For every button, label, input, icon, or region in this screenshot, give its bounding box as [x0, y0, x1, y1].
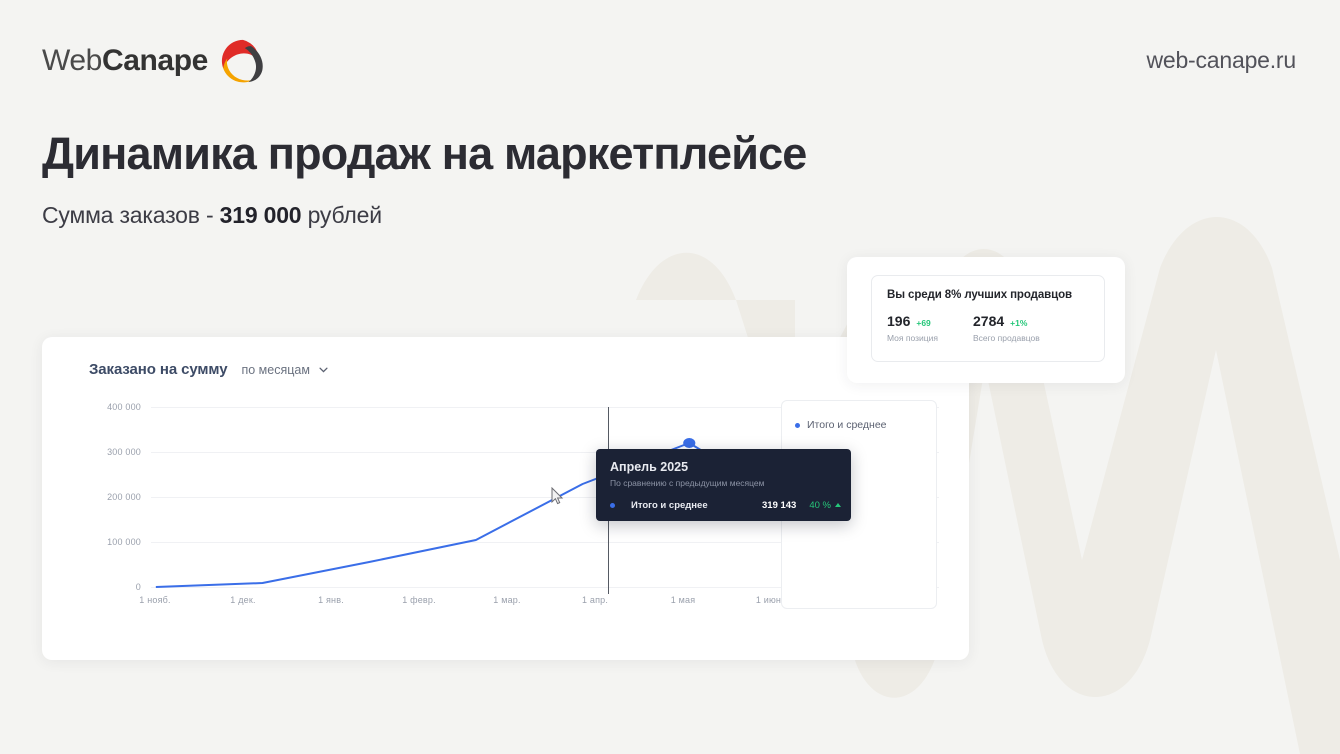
chart-tooltip: Апрель 2025 По сравнению с предыдущим ме…	[596, 449, 851, 521]
y-tick-label: 0	[136, 582, 141, 592]
stat-caption: Моя позиция	[887, 333, 938, 343]
y-tick-label: 300 000	[107, 447, 141, 457]
stat-value-row: 196 +69	[887, 313, 938, 329]
stat-change: +1%	[1010, 318, 1027, 328]
brand-logo[interactable]: WebCanape	[42, 38, 266, 84]
page-subtitle: Сумма заказов - 319 000 рублей	[42, 202, 382, 229]
slide-root: WebCanape web-canape.ru Динамика продаж …	[0, 0, 1340, 754]
brand-text-bold: Canape	[102, 44, 208, 77]
page-title: Динамика продаж на маркетплейсе	[42, 128, 807, 180]
page-subtitle-prefix: Сумма заказов -	[42, 202, 220, 228]
tooltip-series-label: Итого и среднее	[631, 500, 708, 511]
tooltip-subtitle: По сравнению с предыдущим месяцем	[610, 478, 765, 488]
mouse-pointer-icon	[551, 487, 564, 506]
chart-card-header: Заказано на сумму по месяцам	[89, 361, 328, 378]
stats-panel: Вы среди 8% лучших продавцов 196 +69 Моя…	[847, 257, 1125, 383]
site-url: web-canape.ru	[1146, 47, 1296, 74]
x-tick-label: 1 янв.	[318, 595, 344, 605]
triangle-up-icon	[835, 503, 841, 507]
legend-item[interactable]: Итого и среднее	[795, 419, 887, 431]
stat-value: 196	[887, 313, 910, 329]
seller-rank-card: Вы среди 8% лучших продавцов 196 +69 Моя…	[871, 275, 1105, 362]
stat-change: +69	[916, 318, 930, 328]
page-subtitle-value: 319 000	[220, 202, 302, 228]
x-tick-label: 1 дек.	[230, 595, 255, 605]
brand-wordmark: WebCanape	[42, 44, 208, 78]
tooltip-delta: 40 %	[809, 500, 841, 511]
canape-swirl-logo-icon	[220, 38, 266, 84]
stat-total-sellers: 2784 +1% Всего продавцов	[973, 313, 1040, 343]
stat-value-row: 2784 +1%	[973, 313, 1040, 329]
stats-title: Вы среди 8% лучших продавцов	[887, 289, 1072, 301]
tooltip-delta-text: 40 %	[809, 500, 831, 511]
brand-text-light: Web	[42, 44, 102, 77]
x-tick-label: 1 нояб.	[139, 595, 170, 605]
legend-color-dot	[795, 423, 800, 428]
period-select[interactable]: по месяцам	[241, 363, 327, 377]
x-tick-label: 1 февр.	[402, 595, 436, 605]
stat-value: 2784	[973, 313, 1004, 329]
legend-item-label: Итого и среднее	[807, 419, 887, 431]
page-subtitle-suffix: рублей	[301, 202, 381, 228]
x-tick-label: 1 апр.	[582, 595, 608, 605]
tooltip-title: Апрель 2025	[610, 460, 688, 474]
x-tick-label: 1 мар.	[493, 595, 520, 605]
tooltip-series-row: Итого и среднее 319 143 40 %	[610, 496, 841, 514]
y-tick-label: 100 000	[107, 537, 141, 547]
y-axis-labels: 0 100 000 200 000 300 000 400 000	[89, 407, 147, 587]
period-select-value: по месяцам	[241, 363, 309, 377]
y-tick-label: 400 000	[107, 402, 141, 412]
tooltip-color-dot	[610, 503, 615, 508]
stat-caption: Всего продавцов	[973, 333, 1040, 343]
y-tick-label: 200 000	[107, 492, 141, 502]
chart-title: Заказано на сумму	[89, 361, 227, 378]
chevron-down-icon	[319, 367, 328, 373]
x-tick-label: 1 мая	[671, 595, 696, 605]
stat-my-position: 196 +69 Моя позиция	[887, 313, 938, 343]
tooltip-value: 319 143	[762, 500, 796, 511]
